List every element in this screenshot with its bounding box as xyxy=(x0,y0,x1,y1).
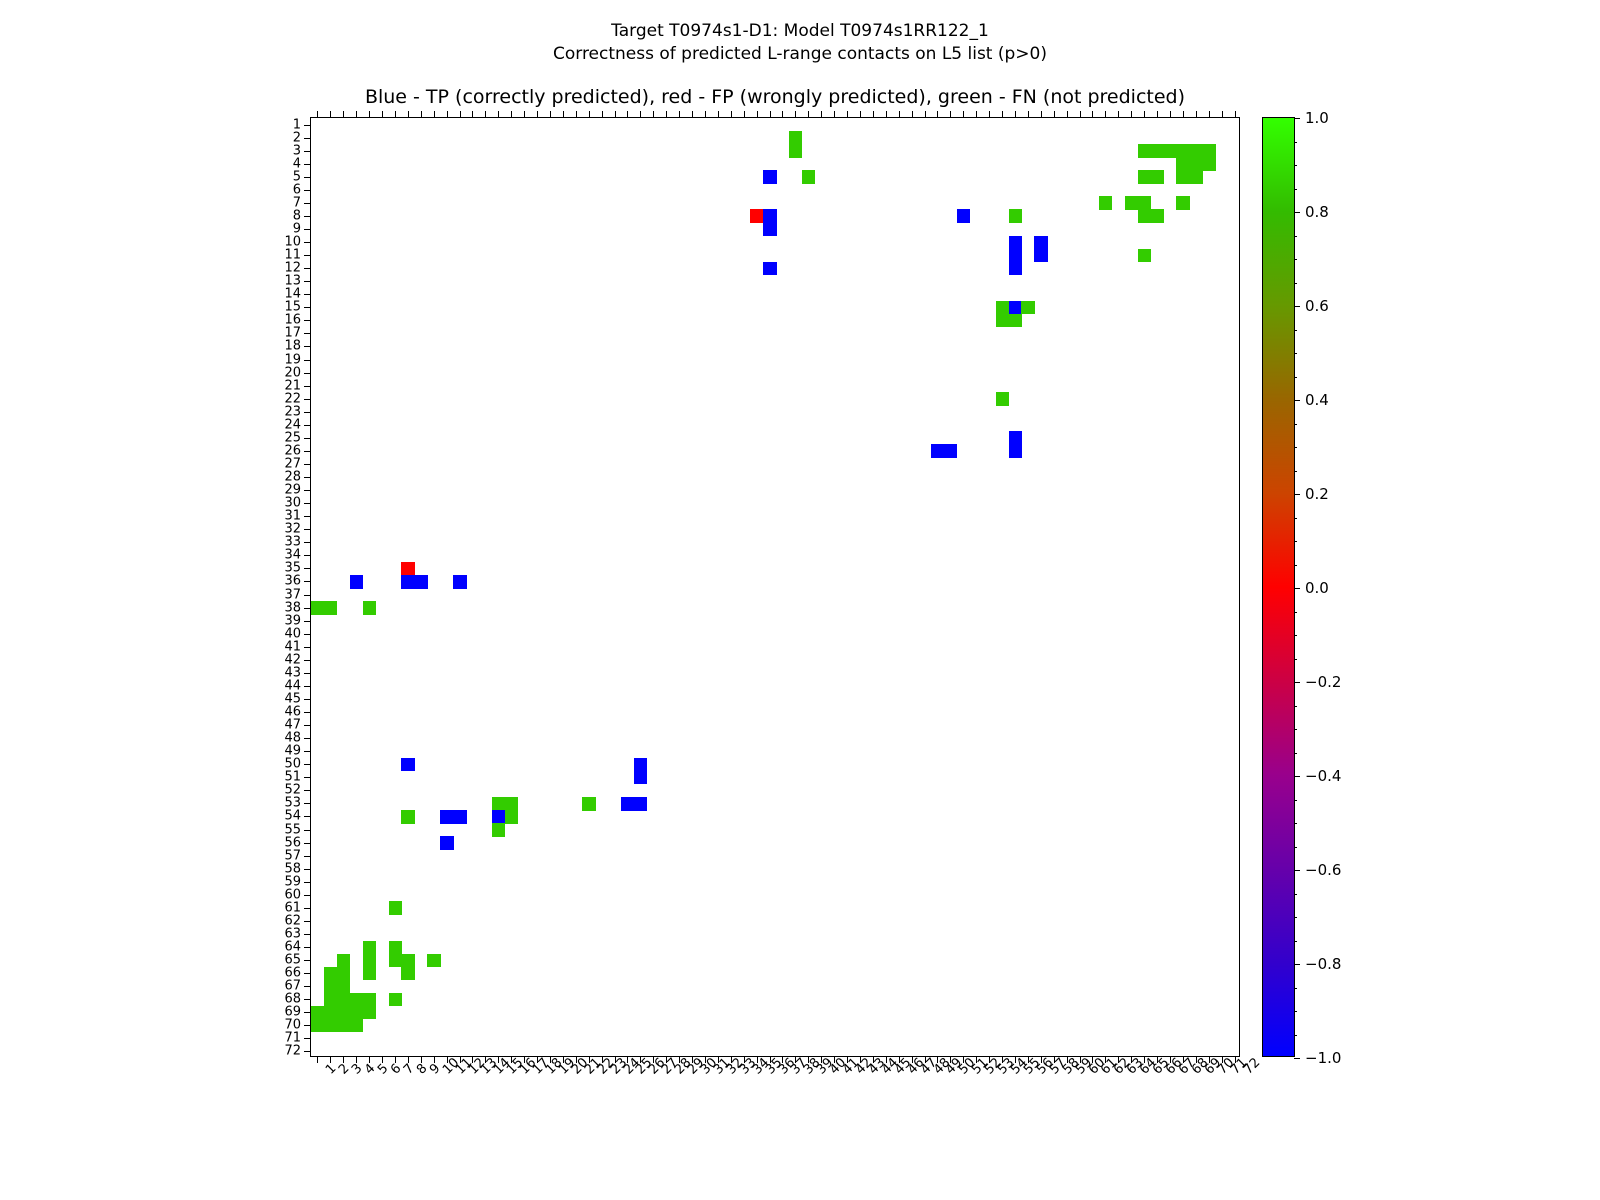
colorbar-minor-tick xyxy=(1294,682,1297,683)
x-tick xyxy=(1170,1056,1171,1063)
x-tick-top xyxy=(718,111,719,118)
contact-cell-fn xyxy=(802,170,816,184)
colorbar-minor-tick xyxy=(1294,1011,1297,1012)
contact-cell-fn xyxy=(350,993,364,1007)
x-tick xyxy=(576,1056,577,1063)
colorbar-minor-tick xyxy=(1294,541,1297,542)
colorbar-minor-tick xyxy=(1294,941,1297,942)
contact-map-plot[interactable]: 1234567891011121314151617181920212223242… xyxy=(310,117,1240,1057)
x-tick xyxy=(963,1056,964,1063)
contact-cell-fn xyxy=(324,967,338,981)
y-tick xyxy=(304,294,311,295)
colorbar-minor-tick xyxy=(1294,424,1297,425)
x-tick-top xyxy=(886,111,887,118)
contact-cell-fn xyxy=(350,1019,364,1033)
y-tick-label: 72 xyxy=(284,1044,301,1059)
contact-cell-fn xyxy=(1151,170,1165,184)
contact-cell-tp xyxy=(414,575,428,589)
x-tick xyxy=(821,1056,822,1063)
contact-cell-fn xyxy=(363,967,377,981)
contact-cell-fn xyxy=(1099,196,1113,210)
contact-cell-fn xyxy=(337,954,351,968)
x-tick xyxy=(421,1056,422,1063)
x-tick-top xyxy=(563,111,564,118)
y-tick xyxy=(304,229,311,230)
contact-cell-fp xyxy=(401,562,415,576)
contact-cell-fn xyxy=(1009,314,1023,328)
y-tick xyxy=(304,1012,311,1013)
x-tick xyxy=(550,1056,551,1063)
y-tick xyxy=(304,477,311,478)
x-tick-top xyxy=(1144,111,1145,118)
x-tick-top xyxy=(899,111,900,118)
contact-cell-tp xyxy=(350,575,364,589)
contact-cell-fn xyxy=(1138,170,1152,184)
contact-cell-fn xyxy=(1189,157,1203,171)
contact-cell-fn xyxy=(363,1006,377,1020)
contact-cell-tp xyxy=(763,262,777,276)
contact-cell-fn xyxy=(337,1019,351,1033)
y-tick xyxy=(304,856,311,857)
contact-cell-fn xyxy=(1138,209,1152,223)
contact-cell-fn xyxy=(324,601,338,615)
contact-cell-fn xyxy=(311,1006,325,1020)
colorbar-tick xyxy=(1294,306,1300,307)
contact-cell-tp xyxy=(944,444,958,458)
contact-cell-fn xyxy=(1164,144,1178,158)
contact-cell-tp xyxy=(931,444,945,458)
x-tick-top xyxy=(795,111,796,118)
contact-cell-fn xyxy=(363,941,377,955)
y-tick xyxy=(304,242,311,243)
y-tick xyxy=(304,777,311,778)
x-tick-top xyxy=(343,111,344,118)
contact-cell-fn xyxy=(1125,196,1139,210)
x-tick xyxy=(563,1056,564,1063)
x-tick-top xyxy=(1170,111,1171,118)
contact-cell-fn xyxy=(337,1006,351,1020)
contact-cell-tp xyxy=(957,209,971,223)
x-tick xyxy=(950,1056,951,1063)
y-tick xyxy=(304,151,311,152)
colorbar-minor-tick xyxy=(1294,142,1297,143)
x-tick-top xyxy=(602,111,603,118)
x-tick xyxy=(679,1056,680,1063)
y-tick xyxy=(304,1025,311,1026)
x-tick xyxy=(524,1056,525,1063)
x-tick-top xyxy=(653,111,654,118)
colorbar-minor-tick xyxy=(1294,800,1297,801)
x-tick xyxy=(744,1056,745,1063)
y-tick xyxy=(304,869,311,870)
x-tick xyxy=(485,1056,486,1063)
contact-cell-fn xyxy=(1138,249,1152,263)
y-tick xyxy=(304,190,311,191)
colorbar-tick-label: −0.4 xyxy=(1305,767,1341,785)
x-tick-top xyxy=(640,111,641,118)
x-tick-top xyxy=(821,111,822,118)
x-tick-top xyxy=(395,111,396,118)
y-tick xyxy=(304,451,311,452)
x-tick xyxy=(356,1056,357,1063)
colorbar-minor-tick xyxy=(1294,870,1297,871)
x-tick xyxy=(808,1056,809,1063)
y-tick xyxy=(304,686,311,687)
contact-cell-fn xyxy=(337,993,351,1007)
colorbar-tick-label: −0.8 xyxy=(1305,955,1341,973)
colorbar-minor-tick xyxy=(1294,353,1297,354)
x-tick-top xyxy=(460,111,461,118)
x-tick-top xyxy=(1105,111,1106,118)
x-tick-top xyxy=(472,111,473,118)
x-tick-top xyxy=(511,111,512,118)
x-tick xyxy=(1080,1056,1081,1063)
x-tick-top xyxy=(330,111,331,118)
y-tick xyxy=(304,712,311,713)
x-tick-top xyxy=(408,111,409,118)
colorbar-tick-label: 1.0 xyxy=(1305,109,1329,127)
y-tick xyxy=(304,373,311,374)
y-tick xyxy=(304,999,311,1000)
colorbar-minor-tick xyxy=(1294,776,1297,777)
contact-cell-tp xyxy=(1034,249,1048,263)
y-tick xyxy=(304,738,311,739)
x-tick xyxy=(1209,1056,1210,1063)
x-tick xyxy=(1067,1056,1068,1063)
colorbar-minor-tick xyxy=(1294,894,1297,895)
contact-cell-fn xyxy=(350,1006,364,1020)
contact-cell-tp xyxy=(1009,249,1023,263)
y-tick xyxy=(304,1051,311,1052)
colorbar-minor-tick xyxy=(1294,988,1297,989)
colorbar-tick-label: −0.2 xyxy=(1305,673,1341,691)
x-tick-top xyxy=(912,111,913,118)
x-tick-top xyxy=(1041,111,1042,118)
y-tick xyxy=(304,699,311,700)
x-tick-top xyxy=(317,111,318,118)
x-tick-top xyxy=(937,111,938,118)
contact-cell-fn xyxy=(505,797,519,811)
contact-cell-tp xyxy=(453,810,467,824)
colorbar-minor-tick xyxy=(1294,283,1297,284)
contact-cell-tp xyxy=(1034,236,1048,250)
y-tick xyxy=(304,307,311,308)
colorbar: −1.0−0.8−0.6−0.4−0.20.00.20.40.60.81.0 xyxy=(1262,117,1295,1057)
y-tick xyxy=(304,986,311,987)
x-tick xyxy=(1157,1056,1158,1063)
contact-cell-tp xyxy=(1009,301,1023,315)
contact-cell-fn xyxy=(1138,144,1152,158)
y-tick xyxy=(304,725,311,726)
x-tick xyxy=(615,1056,616,1063)
x-tick xyxy=(317,1056,318,1063)
colorbar-minor-tick xyxy=(1294,847,1297,848)
x-tick xyxy=(369,1056,370,1063)
x-tick-top xyxy=(1222,111,1223,118)
y-tick xyxy=(304,673,311,674)
x-tick-top xyxy=(757,111,758,118)
x-tick xyxy=(1015,1056,1016,1063)
x-tick xyxy=(498,1056,499,1063)
x-tick-top xyxy=(808,111,809,118)
x-tick-top xyxy=(1054,111,1055,118)
y-tick xyxy=(304,255,311,256)
colorbar-tick xyxy=(1294,588,1300,589)
contact-cell-tp xyxy=(401,575,415,589)
contact-cell-fn xyxy=(1009,209,1023,223)
x-tick xyxy=(382,1056,383,1063)
contact-cell-fn xyxy=(324,1006,338,1020)
y-tick xyxy=(304,360,311,361)
colorbar-minor-tick xyxy=(1294,823,1297,824)
x-tick-top xyxy=(627,111,628,118)
x-tick xyxy=(770,1056,771,1063)
colorbar-tick xyxy=(1294,494,1300,495)
x-tick xyxy=(1144,1056,1145,1063)
x-tick xyxy=(537,1056,538,1063)
colorbar-minor-tick xyxy=(1294,471,1297,472)
x-tick-top xyxy=(589,111,590,118)
colorbar-tick-label: −1.0 xyxy=(1305,1049,1341,1067)
x-tick-top xyxy=(666,111,667,118)
y-tick xyxy=(304,125,311,126)
x-tick-top xyxy=(1131,111,1132,118)
colorbar-minor-tick xyxy=(1294,330,1297,331)
contact-cell-fn xyxy=(492,823,506,837)
x-tick-top xyxy=(731,111,732,118)
y-tick xyxy=(304,320,311,321)
contact-cell-fn xyxy=(401,954,415,968)
colorbar-minor-tick xyxy=(1294,565,1297,566)
contact-cell-tp xyxy=(492,810,506,824)
contact-cell-fn xyxy=(789,144,803,158)
x-tick xyxy=(847,1056,848,1063)
x-tick-top xyxy=(1235,111,1236,118)
x-tick xyxy=(989,1056,990,1063)
y-tick xyxy=(304,908,311,909)
x-tick-top xyxy=(1118,111,1119,118)
colorbar-minor-tick xyxy=(1294,165,1297,166)
y-tick xyxy=(304,895,311,896)
x-tick xyxy=(1235,1056,1236,1063)
contact-cell-fn xyxy=(996,392,1010,406)
x-tick-top xyxy=(692,111,693,118)
contact-cell-tp xyxy=(634,758,648,772)
x-tick-top xyxy=(1183,111,1184,118)
contact-cell-fn xyxy=(996,314,1010,328)
x-tick xyxy=(782,1056,783,1063)
contact-cell-tp xyxy=(1009,431,1023,445)
y-tick xyxy=(304,555,311,556)
x-tick xyxy=(653,1056,654,1063)
contact-cell-fn xyxy=(1202,144,1216,158)
colorbar-tick-label: −0.6 xyxy=(1305,861,1341,879)
contact-cell-tp xyxy=(763,170,777,184)
x-tick xyxy=(1041,1056,1042,1063)
y-tick xyxy=(304,529,311,530)
x-tick xyxy=(1222,1056,1223,1063)
x-tick xyxy=(395,1056,396,1063)
x-tick xyxy=(925,1056,926,1063)
colorbar-minor-tick xyxy=(1294,612,1297,613)
y-tick xyxy=(304,960,311,961)
y-tick xyxy=(304,595,311,596)
x-tick xyxy=(408,1056,409,1063)
contact-cell-fn xyxy=(389,901,403,915)
x-tick-top xyxy=(1002,111,1003,118)
colorbar-minor-tick xyxy=(1294,659,1297,660)
contact-cell-fn xyxy=(1151,144,1165,158)
x-tick xyxy=(1131,1056,1132,1063)
x-tick-label: 1 xyxy=(323,1067,334,1078)
colorbar-minor-tick xyxy=(1294,964,1297,965)
y-tick xyxy=(304,203,311,204)
colorbar-minor-tick xyxy=(1294,236,1297,237)
colorbar-minor-tick xyxy=(1294,753,1297,754)
y-tick xyxy=(304,464,311,465)
x-tick xyxy=(511,1056,512,1063)
contact-cell-fn xyxy=(427,954,441,968)
colorbar-minor-tick xyxy=(1294,377,1297,378)
x-tick-top xyxy=(524,111,525,118)
contact-cell-fn xyxy=(363,601,377,615)
x-tick-top xyxy=(989,111,990,118)
y-tick xyxy=(304,346,311,347)
y-tick xyxy=(304,921,311,922)
contact-cell-fn xyxy=(1138,196,1152,210)
x-tick-top xyxy=(963,111,964,118)
x-tick-top xyxy=(1196,111,1197,118)
colorbar-minor-tick xyxy=(1294,1035,1297,1036)
contact-cell-fn xyxy=(389,993,403,1007)
contact-cell-fn xyxy=(1202,157,1216,171)
contact-cell-tp xyxy=(621,797,635,811)
x-tick-top xyxy=(782,111,783,118)
y-tick xyxy=(304,386,311,387)
y-tick xyxy=(304,399,311,400)
x-tick-top xyxy=(705,111,706,118)
contact-cell-tp xyxy=(1009,236,1023,250)
colorbar-tick xyxy=(1294,118,1300,119)
y-tick xyxy=(304,934,311,935)
x-tick-top xyxy=(615,111,616,118)
contact-cell-fn xyxy=(492,797,506,811)
y-tick xyxy=(304,843,311,844)
y-tick xyxy=(304,581,311,582)
contact-cell-fn xyxy=(582,797,596,811)
y-tick xyxy=(304,973,311,974)
contact-cell-fn xyxy=(1176,157,1190,171)
x-tick xyxy=(912,1056,913,1063)
y-tick xyxy=(304,621,311,622)
x-tick xyxy=(1118,1056,1119,1063)
contact-cell-fn xyxy=(324,980,338,994)
colorbar-minor-tick xyxy=(1294,518,1297,519)
contact-cell-tp xyxy=(634,771,648,785)
colorbar-minor-tick xyxy=(1294,917,1297,918)
x-tick-top xyxy=(1092,111,1093,118)
contact-cell-fn xyxy=(324,993,338,1007)
figure-suptitle: Target T0974s1-D1: Model T0974s1RR122_1 … xyxy=(0,20,1600,66)
x-tick xyxy=(834,1056,835,1063)
x-tick xyxy=(705,1056,706,1063)
x-tick xyxy=(1196,1056,1197,1063)
colorbar-tick-label: 0.4 xyxy=(1305,391,1329,409)
contact-cell-fn xyxy=(1189,144,1203,158)
x-tick xyxy=(627,1056,628,1063)
x-tick-top xyxy=(679,111,680,118)
axes-title-legend: Blue - TP (correctly predicted), red - F… xyxy=(310,86,1240,108)
suptitle-line-1: Target T0974s1-D1: Model T0974s1RR122_1 xyxy=(0,20,1600,43)
x-tick-top xyxy=(421,111,422,118)
contact-cell-fn xyxy=(1189,170,1203,184)
contact-cell-tp xyxy=(1009,262,1023,276)
x-tick xyxy=(330,1056,331,1063)
colorbar-minor-tick xyxy=(1294,447,1297,448)
x-tick xyxy=(1183,1056,1184,1063)
contact-cell-fn xyxy=(996,301,1010,315)
suptitle-line-2: Correctness of predicted L-range contact… xyxy=(0,43,1600,66)
y-tick xyxy=(304,516,311,517)
contact-cell-fn xyxy=(1151,209,1165,223)
colorbar-tick xyxy=(1294,1058,1300,1059)
x-tick-top xyxy=(1157,111,1158,118)
contact-cell-fn xyxy=(311,1019,325,1033)
x-tick-top xyxy=(498,111,499,118)
contact-cell-fn xyxy=(401,810,415,824)
x-tick xyxy=(937,1056,938,1063)
x-tick-top xyxy=(434,111,435,118)
contact-cell-fn xyxy=(1176,170,1190,184)
x-tick-top xyxy=(1080,111,1081,118)
x-tick xyxy=(1028,1056,1029,1063)
x-tick xyxy=(718,1056,719,1063)
colorbar-minor-tick xyxy=(1294,729,1297,730)
contact-cell-tp xyxy=(763,209,777,223)
x-tick xyxy=(589,1056,590,1063)
x-tick-top xyxy=(382,111,383,118)
x-tick xyxy=(1105,1056,1106,1063)
contact-cell-tp xyxy=(440,810,454,824)
contact-cell-fn xyxy=(789,131,803,145)
y-tick xyxy=(304,764,311,765)
x-tick-top xyxy=(847,111,848,118)
colorbar-tick xyxy=(1294,212,1300,213)
x-tick-top xyxy=(925,111,926,118)
x-tick-top xyxy=(369,111,370,118)
contact-cell-fn xyxy=(389,954,403,968)
x-tick xyxy=(860,1056,861,1063)
y-tick xyxy=(304,634,311,635)
x-tick xyxy=(692,1056,693,1063)
contact-cell-fn xyxy=(363,993,377,1007)
y-tick xyxy=(304,882,311,883)
y-tick xyxy=(304,568,311,569)
x-tick xyxy=(757,1056,758,1063)
y-tick xyxy=(304,608,311,609)
x-tick-top xyxy=(834,111,835,118)
y-tick xyxy=(304,947,311,948)
contact-cell-tp xyxy=(763,222,777,236)
y-tick xyxy=(304,1038,311,1039)
x-tick xyxy=(343,1056,344,1063)
colorbar-minor-tick xyxy=(1294,189,1297,190)
x-tick-top xyxy=(976,111,977,118)
heatmap-cells xyxy=(311,118,1239,1056)
y-tick xyxy=(304,490,311,491)
x-tick xyxy=(472,1056,473,1063)
contact-cell-fn xyxy=(401,967,415,981)
